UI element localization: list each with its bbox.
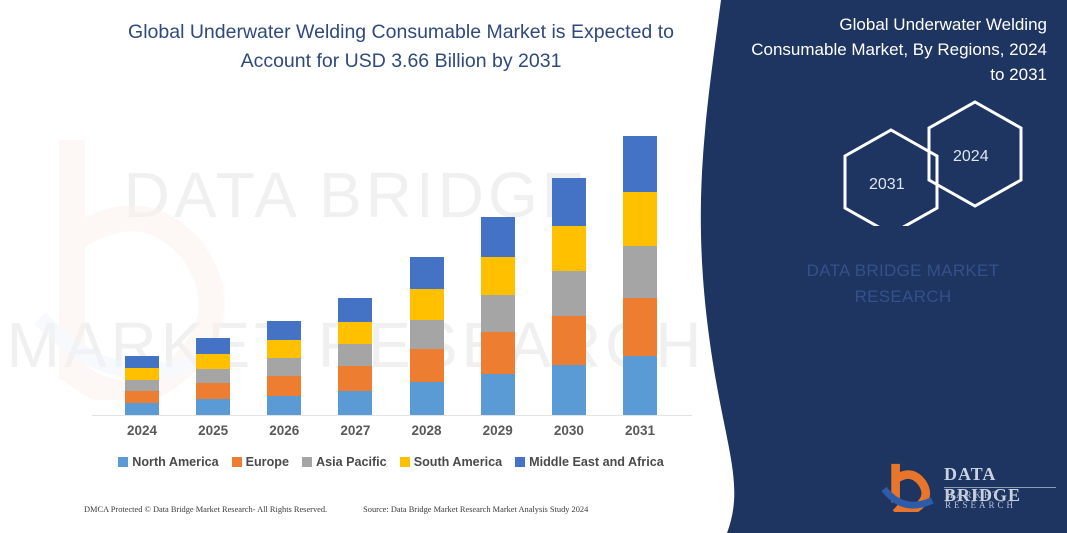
bar-segment: [481, 295, 515, 332]
panel-brand-line1: DATA BRIDGE MARKET: [807, 261, 1000, 280]
bar-segment: [552, 226, 586, 272]
legend-label: North America: [132, 455, 218, 469]
logo: DATA BRIDGE MARKET RESEARCH: [882, 458, 1062, 512]
x-axis-tick-label: 2026: [252, 423, 316, 445]
bar-segment: [267, 396, 301, 416]
bar-column: [181, 338, 245, 416]
hex-badges: 2024 2031: [807, 96, 1067, 226]
legend-swatch: [232, 457, 242, 467]
chart-title: Global Underwater Welding Consumable Mar…: [96, 18, 706, 76]
legend-item[interactable]: South America: [400, 455, 502, 469]
panel-title: Global Underwater Welding Consumable Mar…: [747, 12, 1047, 87]
stacked-bar: [410, 257, 444, 416]
bar-column: [608, 136, 672, 416]
bar-segment: [338, 322, 372, 345]
bar-segment: [267, 321, 301, 340]
bar-segment: [338, 298, 372, 322]
bar-segment: [623, 246, 657, 298]
legend-item[interactable]: Europe: [232, 455, 289, 469]
x-axis-tick-label: 2028: [395, 423, 459, 445]
bar-segment: [267, 376, 301, 396]
hex-label-2024: 2024: [953, 148, 989, 166]
bar-segment: [410, 349, 444, 382]
bar-segment: [196, 399, 230, 416]
bar-segment: [552, 365, 586, 416]
bar-segment: [481, 257, 515, 295]
infographic-root: DATA BRIDGEMARKET RESEARCH Global Underw…: [0, 0, 1067, 533]
logo-mark-icon: [882, 460, 940, 512]
stacked-bar: [338, 298, 372, 416]
x-axis-tick-label: 2030: [537, 423, 601, 445]
x-axis-tick-label: 2031: [608, 423, 672, 445]
logo-divider: [944, 487, 1056, 488]
legend-swatch: [302, 457, 312, 467]
x-axis-line: [92, 415, 692, 416]
bar-column: [395, 257, 459, 416]
stacked-bar: [267, 321, 301, 416]
bar-segment: [196, 338, 230, 354]
bar-segment: [623, 136, 657, 192]
bar-segment: [410, 257, 444, 289]
bar-segment: [125, 391, 159, 404]
bar-segment: [338, 391, 372, 416]
legend-item[interactable]: Middle East and Africa: [515, 455, 664, 469]
bar-segment: [410, 289, 444, 320]
stacked-bar: [125, 356, 159, 416]
chart-legend: North AmericaEuropeAsia PacificSouth Ame…: [96, 455, 686, 469]
x-axis-tick-label: 2025: [181, 423, 245, 445]
bar-segment: [338, 344, 372, 366]
footer-source: Source: Data Bridge Market Research Mark…: [363, 505, 588, 514]
panel-brand-text: DATA BRIDGE MARKET RESEARCH: [763, 258, 1043, 310]
legend-label: South America: [414, 455, 502, 469]
legend-swatch: [515, 457, 525, 467]
bar-segment: [552, 271, 586, 316]
bar-segment: [196, 354, 230, 369]
legend-label: Europe: [246, 455, 289, 469]
stacked-bar: [481, 217, 515, 416]
bar-column: [323, 298, 387, 416]
bar-column: [537, 178, 601, 416]
bar-column: [110, 356, 174, 416]
x-axis-tick-label: 2029: [466, 423, 530, 445]
bar-segment: [552, 316, 586, 365]
footer-copyright: DMCA Protected © Data Bridge Market Rese…: [84, 505, 327, 514]
bar-segment: [196, 383, 230, 399]
legend-label: Asia Pacific: [316, 455, 387, 469]
legend-label: Middle East and Africa: [529, 455, 664, 469]
bar-segment: [410, 382, 444, 416]
bar-segment: [125, 380, 159, 391]
bar-segment: [552, 178, 586, 226]
bar-segment: [267, 358, 301, 376]
bar-segment: [481, 374, 515, 416]
bar-segment: [196, 369, 230, 384]
right-panel: Global Underwater Welding Consumable Mar…: [687, 0, 1067, 533]
stacked-bar: [196, 338, 230, 416]
bar-segment: [267, 340, 301, 358]
stacked-bar: [552, 178, 586, 416]
bar-column: [466, 217, 530, 416]
logo-text-secondary: MARKET RESEARCH: [945, 490, 1062, 510]
bar-segment: [481, 217, 515, 257]
panel-brand-line2: RESEARCH: [855, 287, 952, 306]
legend-swatch: [400, 457, 410, 467]
legend-item[interactable]: Asia Pacific: [302, 455, 387, 469]
legend-swatch: [118, 457, 128, 467]
stacked-bar: [623, 136, 657, 416]
bar-group: [96, 120, 686, 416]
footer: DMCA Protected © Data Bridge Market Rese…: [84, 505, 684, 514]
x-axis-tick-label: 2024: [110, 423, 174, 445]
chart-plot-area: [96, 120, 686, 416]
bar-segment: [481, 332, 515, 373]
legend-item[interactable]: North America: [118, 455, 218, 469]
bar-segment: [125, 356, 159, 368]
bar-segment: [125, 368, 159, 380]
x-axis-labels: 20242025202620272028202920302031: [96, 423, 686, 445]
bar-column: [252, 321, 316, 416]
x-axis-tick-label: 2027: [323, 423, 387, 445]
bar-segment: [623, 356, 657, 416]
bar-segment: [410, 320, 444, 350]
bar-segment: [623, 192, 657, 246]
hex-label-2031: 2031: [869, 176, 905, 194]
hexagon-outline-icon: [807, 96, 1067, 226]
bar-segment: [623, 298, 657, 356]
bar-segment: [338, 366, 372, 391]
